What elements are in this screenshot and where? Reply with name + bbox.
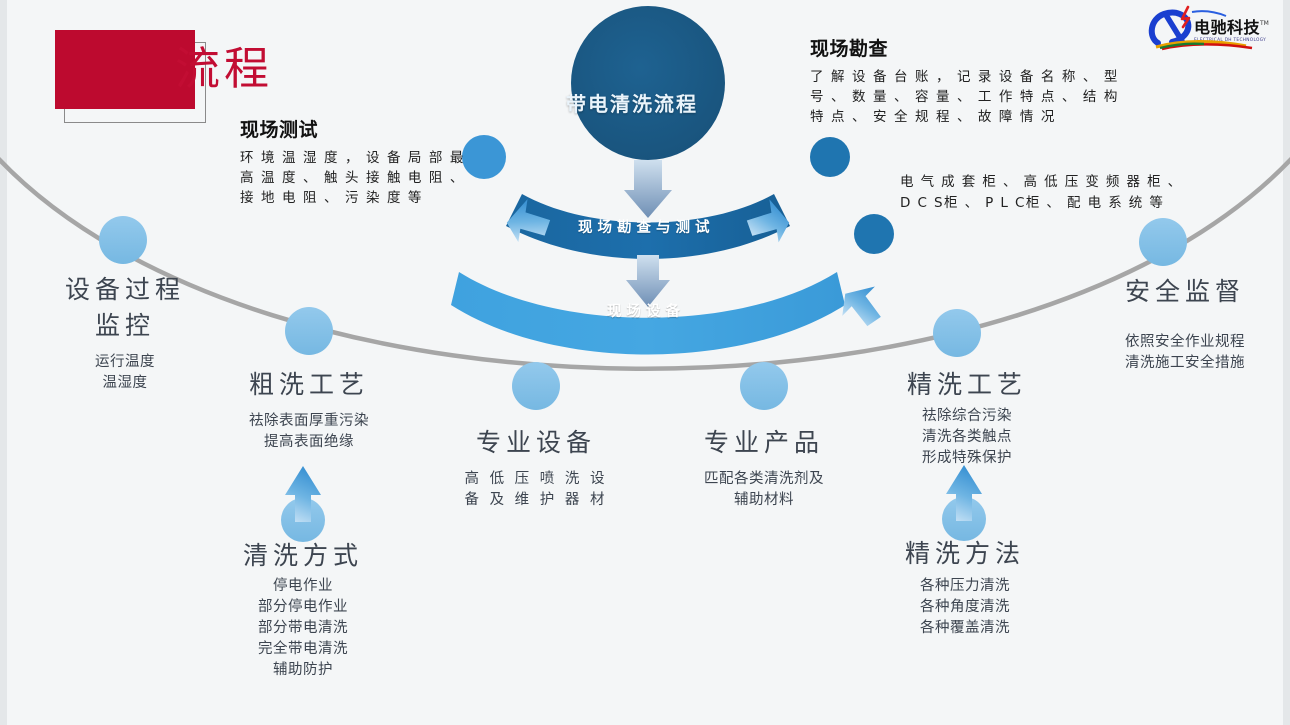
callout-field-test: 现场测试 环 境 温 湿 度 ， 设 备 局 部 最 高 温 度 、 触 头 接… <box>240 115 465 208</box>
node-equipment-process-monitoring[interactable]: 设备过程 监控 运行温度 温湿度 <box>30 270 220 394</box>
node-professional-equipment-sub-1: 高 低 压 喷 洗 设 <box>441 469 631 490</box>
right-edge-strip <box>1283 0 1290 725</box>
node-cleaning-method-sub-3: 部分带电清洗 <box>208 618 398 639</box>
band-lower-label: 现场设备 <box>607 300 685 321</box>
node-safety-supervision-sub-2: 清洗施工安全措施 <box>1090 353 1280 374</box>
node-dot-6 <box>1139 218 1187 266</box>
center-hub-label: 带电清洗流程 <box>566 88 698 117</box>
node-cleaning-method-heading: 清洗方式 <box>208 536 398 572</box>
node-coarse-wash-process-sub-2: 提高表面绝缘 <box>214 432 404 453</box>
node-dot-2 <box>285 307 333 355</box>
callout-site-survey-line-1: 了 解 设 备 台 账 ， 记 录 设 备 名 称 、 型 <box>810 67 1119 87</box>
node-professional-products-sub-1: 匹配各类清洗剂及 <box>669 469 859 490</box>
side-dot-right-upper <box>810 137 850 177</box>
node-dot-4 <box>740 362 788 410</box>
center-hub-circle <box>571 6 725 160</box>
sub-node-arrow-2 <box>946 465 982 521</box>
node-dot-3 <box>512 362 560 410</box>
node-fine-wash-process-sub-2: 清洗各类触点 <box>872 427 1062 448</box>
note-cabinet-types-line-2: D C S柜 、 P L C柜 、 配 电 系 统 等 <box>900 193 1183 214</box>
node-dot-5 <box>933 309 981 357</box>
node-fine-wash-method-sub-1: 各种压力清洗 <box>870 576 1060 597</box>
node-fine-wash-method-heading: 精洗方法 <box>870 534 1060 570</box>
logo-tm: TM <box>1259 20 1269 27</box>
node-cleaning-method-sub-4: 完全带电清洗 <box>208 639 398 660</box>
band-arrow-right <box>743 195 794 246</box>
node-fine-wash-process-heading: 精洗工艺 <box>872 365 1062 401</box>
node-coarse-wash-process[interactable]: 粗洗工艺 祛除表面厚重污染 提高表面绝缘 <box>214 365 404 453</box>
hub-to-band-arrow <box>624 160 672 218</box>
callout-field-test-line-3: 接 地 电 阻 、 污 染 度 等 <box>240 188 465 208</box>
logo-brand-cn: 电驰科技 <box>1194 18 1261 37</box>
title-red-shape <box>55 30 195 109</box>
node-equipment-process-monitoring-sub-2: 温湿度 <box>30 373 220 394</box>
node-coarse-wash-process-sub-1: 祛除表面厚重污染 <box>214 411 404 432</box>
sub-node-arrow-1 <box>285 466 321 522</box>
node-coarse-wash-process-heading: 粗洗工艺 <box>214 365 404 401</box>
node-equipment-process-monitoring-sub-1: 运行温度 <box>30 352 220 373</box>
callout-site-survey-line-3: 特 点 、 安 全 规 程 、 故 障 情 况 <box>810 107 1119 127</box>
callout-field-test-line-1: 环 境 温 湿 度 ， 设 备 局 部 最 <box>240 148 465 168</box>
node-professional-products-heading: 专业产品 <box>669 423 859 459</box>
node-fine-wash-method-sub-3: 各种覆盖清洗 <box>870 618 1060 639</box>
node-fine-wash-process-sub-1: 祛除综合污染 <box>872 406 1062 427</box>
side-dot-left-upper <box>462 135 506 179</box>
node-professional-equipment-heading: 专业设备 <box>441 423 631 459</box>
node-fine-wash-process[interactable]: 精洗工艺 祛除综合污染 清洗各类触点 形成特殊保护 <box>872 365 1062 469</box>
side-dot-right-lower <box>854 214 894 254</box>
node-equipment-process-monitoring-heading-2: 监控 <box>30 306 220 342</box>
node-safety-supervision-sub-1: 依照安全作业规程 <box>1090 332 1280 353</box>
page-title: 流程 <box>175 32 273 97</box>
node-equipment-process-monitoring-heading-1: 设备过程 <box>30 270 220 306</box>
node-professional-equipment-sub-2: 备 及 维 护 器 材 <box>441 490 631 511</box>
callout-field-test-heading: 现场测试 <box>240 115 465 142</box>
node-cleaning-method-sub-2: 部分停电作业 <box>208 597 398 618</box>
callout-field-test-line-2: 高 温 度 、 触 头 接 触 电 阻 、 <box>240 168 465 188</box>
node-fine-wash-method[interactable]: 精洗方法 各种压力清洗 各种角度清洗 各种覆盖清洗 <box>870 534 1060 639</box>
note-cabinet-types-line-1: 电 气 成 套 柜 、 高 低 压 变 频 器 柜 、 <box>900 172 1183 193</box>
node-safety-supervision-heading: 安全监督 <box>1090 272 1280 308</box>
node-professional-products-sub-2: 辅助材料 <box>669 490 859 511</box>
node-professional-equipment[interactable]: 专业设备 高 低 压 喷 洗 设 备 及 维 护 器 材 <box>441 423 631 511</box>
callout-site-survey-line-2: 号 、 数 量 、 容 量 、 工 作 特 点 、 结 构 <box>810 87 1119 107</box>
node-cleaning-method-sub-1: 停电作业 <box>208 576 398 597</box>
node-cleaning-method[interactable]: 清洗方式 停电作业 部分停电作业 部分带电清洗 完全带电清洗 辅助防护 <box>208 536 398 681</box>
note-cabinet-types: 电 气 成 套 柜 、 高 低 压 变 频 器 柜 、 D C S柜 、 P L… <box>900 172 1183 214</box>
band-arrow-right-lower <box>838 278 889 329</box>
node-dot-1 <box>99 216 147 264</box>
node-fine-wash-process-sub-3: 形成特殊保护 <box>872 448 1062 469</box>
node-cleaning-method-sub-5: 辅助防护 <box>208 660 398 681</box>
node-fine-wash-method-sub-2: 各种角度清洗 <box>870 597 1060 618</box>
callout-site-survey: 现场勘查 了 解 设 备 台 账 ， 记 录 设 备 名 称 、 型 号 、 数… <box>810 34 1119 127</box>
left-edge-strip <box>0 0 7 725</box>
callout-site-survey-heading: 现场勘查 <box>810 34 1119 61</box>
slide-canvas: 流程 电驰科技 ELECTRICAL DH TECHNOLOGY TM <box>0 0 1290 725</box>
company-logo: 电驰科技 ELECTRICAL DH TECHNOLOGY TM <box>1142 3 1282 51</box>
node-professional-products[interactable]: 专业产品 匹配各类清洗剂及 辅助材料 <box>669 423 859 511</box>
band-upper-label: 现场勘查与测试 <box>578 216 715 237</box>
band-arrow-left <box>502 194 554 245</box>
node-safety-supervision[interactable]: 安全监督 依照安全作业规程 清洗施工安全措施 <box>1090 272 1280 374</box>
